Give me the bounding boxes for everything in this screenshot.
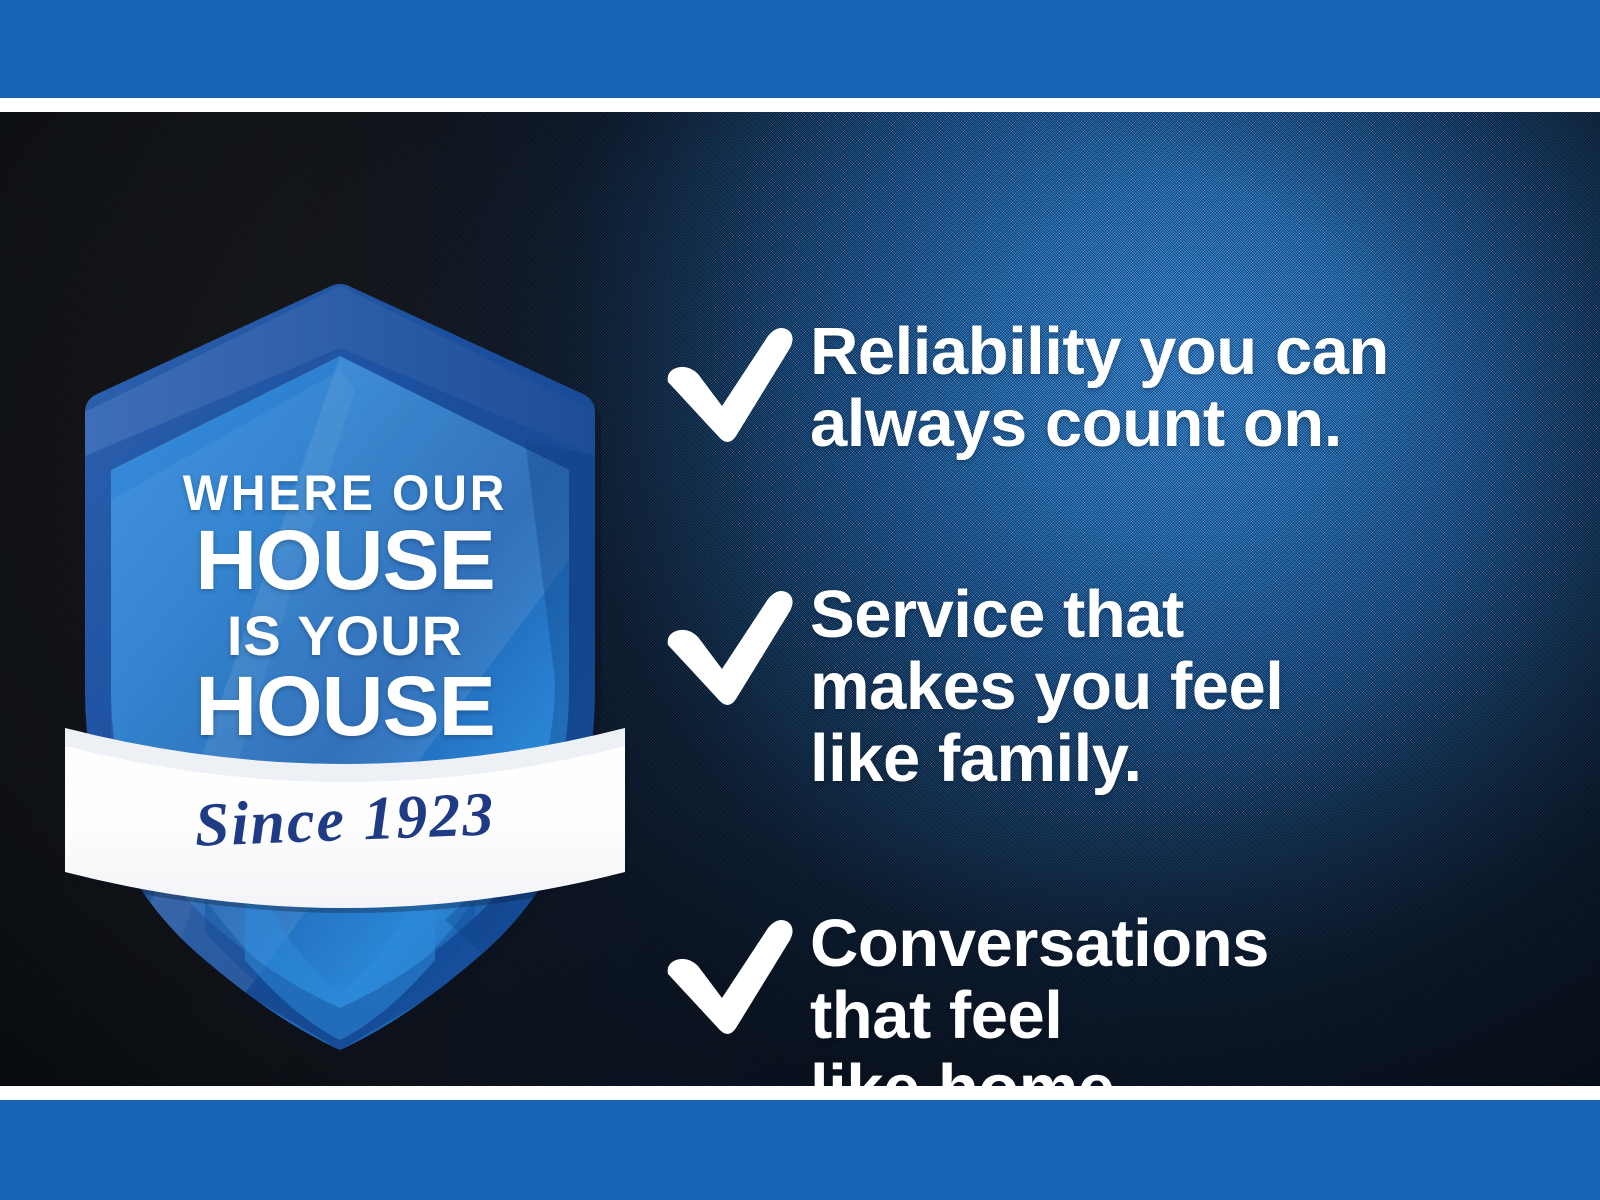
benefits-list: Reliability you can always count on. Ser… <box>660 292 1560 1086</box>
shield-badge: WHERE OUR HOUSE IS YOUR HOUSE Since 1923 <box>55 260 635 1050</box>
main-panel: WHERE OUR HOUSE IS YOUR HOUSE Since 1923… <box>0 112 1600 1086</box>
benefit-text: Reliability you can always count on. <box>810 316 1389 461</box>
benefit-item: Reliability you can always count on. <box>660 316 1560 461</box>
top-brand-bar <box>0 0 1600 98</box>
checkmark-icon <box>660 324 810 444</box>
checkmark-icon <box>660 587 810 707</box>
benefit-item: Service that makes you feel like family. <box>660 579 1560 796</box>
checkmark-icon <box>660 916 810 1036</box>
bottom-brand-bar <box>0 1100 1600 1200</box>
benefit-text: Service that makes you feel like family. <box>810 579 1283 796</box>
benefit-item: Conversations that feel like home. <box>660 908 1560 1086</box>
promo-graphic: WHERE OUR HOUSE IS YOUR HOUSE Since 1923… <box>0 0 1600 1200</box>
benefit-text: Conversations that feel like home. <box>810 908 1269 1086</box>
